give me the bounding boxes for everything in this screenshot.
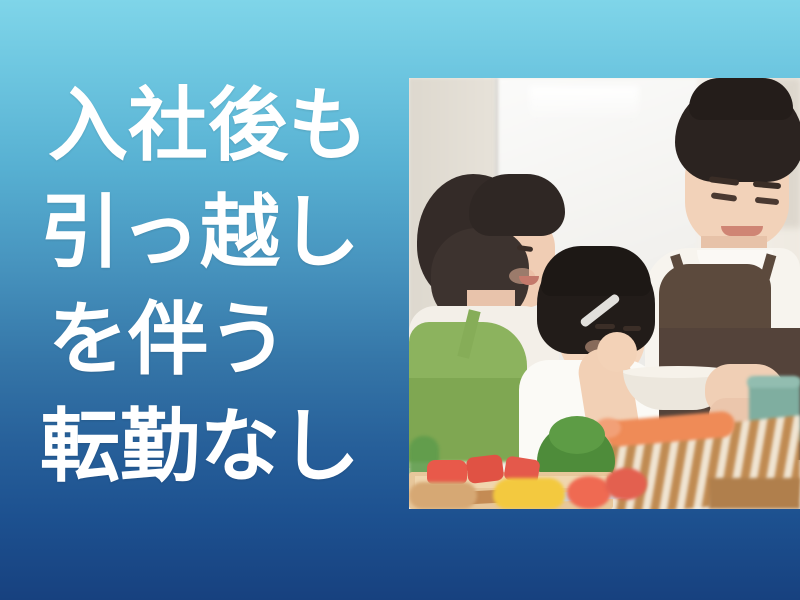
refrigerator-highlight: [529, 86, 639, 122]
headline-line-1: 入社後も: [48, 72, 378, 179]
tomato-whole-2: [605, 468, 647, 500]
headline-line-4: 転勤なし: [40, 393, 378, 500]
broccoli-top: [549, 416, 605, 454]
potato: [409, 482, 477, 509]
tomato-slice-1: [427, 460, 467, 484]
tomato-slice-2: [466, 454, 505, 484]
cooking-pot-rim: [747, 376, 800, 388]
man-smile: [721, 226, 763, 236]
headline-line-3: を伴う: [48, 286, 378, 393]
boy-hand: [597, 332, 637, 372]
headline-line-2: 引っ越し: [40, 179, 378, 286]
recruitment-banner: 入社後も 引っ越し を伴う 転勤なし: [0, 0, 800, 600]
woman-hair-fringe: [469, 174, 565, 236]
family-cooking-photo: [409, 78, 800, 509]
boy-hair-fringe: [541, 246, 651, 296]
headline-block: 入社後も 引っ越し を伴う 転勤なし: [38, 72, 378, 500]
man-hair-top: [689, 78, 793, 120]
wooden-rack-frame: [709, 478, 800, 509]
yellow-bell-pepper: [493, 478, 565, 509]
boy-eye-right: [623, 326, 641, 331]
boy-eye-left: [595, 324, 615, 329]
